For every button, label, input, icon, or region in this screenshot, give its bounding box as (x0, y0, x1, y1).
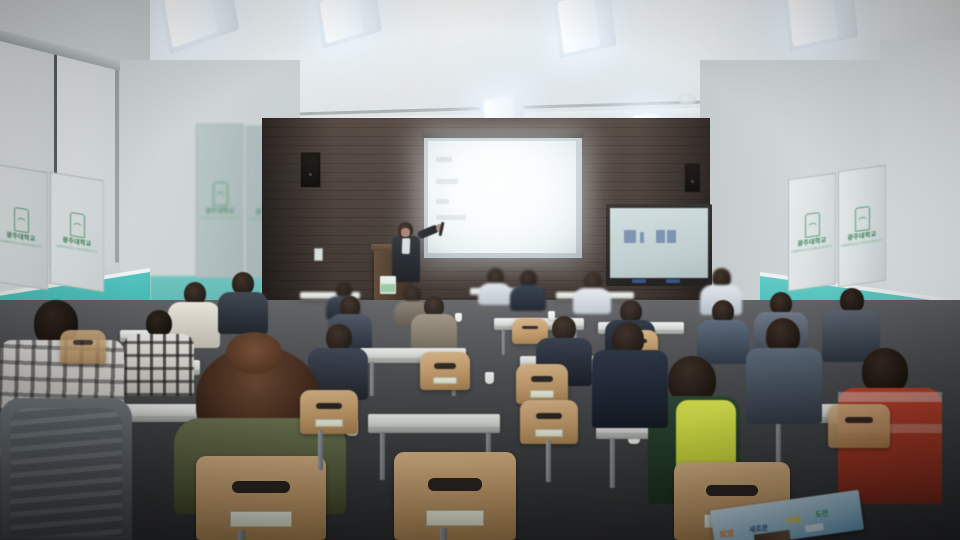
attendee-head (146, 310, 172, 337)
chair-number-sticker (315, 419, 343, 427)
handout-papers-accent (381, 284, 395, 292)
banner-english-text: GWANGJU UNIVERSITY (199, 217, 241, 220)
chair-back-foreground[interactable] (394, 452, 516, 540)
chair-back[interactable] (520, 400, 578, 444)
whiteboard-writing (656, 230, 665, 243)
chair-back[interactable] (420, 352, 470, 390)
chair-handle-slot (73, 340, 93, 345)
whiteboard-writing (640, 232, 644, 243)
attendee-dark-jacket (218, 292, 268, 334)
chair-back[interactable] (516, 364, 568, 404)
attendee-light-blue-shirt (573, 288, 611, 314)
banner-right-1: 광주대학교 GWANGJU UNIVERSITY (788, 173, 836, 292)
chair-handle-slot (531, 376, 554, 382)
desk-leg (610, 438, 615, 488)
banner-logo: 광주대학교 GWANGJU UNIVERSITY (0, 205, 42, 250)
chair-number-sticker (426, 510, 485, 526)
leaflet-word-1: 희망 (719, 528, 735, 540)
attendee-navy-suit (510, 285, 546, 311)
university-mark-icon (855, 206, 870, 232)
banner-logo: 광주대학교 GWANGJU UNIVERSITY (199, 182, 241, 220)
chair-leg (440, 528, 447, 540)
wall-speaker-left-icon (300, 152, 321, 188)
university-mark-icon (213, 182, 228, 206)
chair-leg (318, 430, 323, 470)
smoke-detector-icon (678, 94, 696, 105)
slide-text-line (436, 157, 452, 162)
desk-leg (370, 362, 374, 396)
university-mark-icon (805, 212, 820, 238)
desk-leg (380, 432, 385, 480)
attendee-teal-shirt (697, 320, 749, 364)
front-wall-shadow-left (262, 118, 332, 318)
slide-text-line (436, 199, 449, 204)
leaflet-logo (805, 523, 824, 532)
chair-leg (546, 440, 551, 482)
wall-outlet-icon (314, 248, 323, 261)
attendee-hair-bun-knot (226, 332, 282, 374)
banner-back-1: 광주대학교 GWANGJU UNIVERSITY (196, 124, 244, 278)
attendee-white-shirt (478, 283, 512, 305)
leaflet-word-4: 도전 (815, 508, 829, 520)
university-mark-icon (14, 207, 29, 233)
lecture-hall-photo: 광주대학교 GWANGJU UNIVERSITY 광주대학교 GWANGJU U… (0, 0, 960, 540)
leaflet-word-3: 미래 (785, 514, 801, 527)
slide-text-line (436, 215, 466, 220)
chair-back-foreground[interactable] (196, 456, 326, 540)
banner-logo: 광주대학교 GWANGJU UNIVERSITY (791, 210, 833, 254)
banner-logo: 광주대학교 GWANGJU UNIVERSITY (841, 204, 883, 248)
chair-handle-slot (434, 363, 456, 368)
desk-edge (368, 427, 500, 433)
blind-edge (115, 62, 119, 263)
banner-left-2: 광주대학교 GWANGJU UNIVERSITY (50, 172, 104, 293)
chair-number-sticker (230, 511, 292, 526)
chair-back[interactable] (60, 330, 106, 364)
chair-handle-slot (232, 481, 289, 493)
chair-number-sticker (433, 377, 457, 384)
screen-roller-housing[interactable] (422, 130, 584, 138)
shirt-stripe (838, 392, 942, 402)
chair-handle-slot (428, 478, 482, 490)
banner-logo: 광주대학교 GWANGJU UNIVERSITY (56, 210, 98, 255)
banner-right-2: 광주대학교 GWANGJU UNIVERSITY (838, 165, 886, 288)
whiteboard (610, 208, 708, 278)
whiteboard-writing (667, 230, 676, 243)
attendee-grey-suit (746, 348, 822, 424)
attendee-navy-suit (592, 350, 668, 428)
chair-back[interactable] (300, 390, 358, 434)
wall-speaker-right-icon (684, 163, 701, 193)
paper-cup (548, 311, 555, 320)
presenter-shirt (402, 238, 411, 254)
chair-handle-slot (316, 403, 342, 409)
projection-screen (428, 141, 576, 253)
banner-korean-text: 광주대학교 (199, 209, 241, 215)
attendee-head (326, 324, 352, 351)
chair-handle-slot (845, 417, 872, 423)
chair-back[interactable] (828, 404, 890, 448)
chair-number-sticker (530, 390, 555, 397)
university-mark-icon (70, 212, 85, 238)
attendee-plaid-shirt (124, 334, 194, 396)
chair-leg (238, 530, 245, 540)
marker-tray (632, 279, 646, 283)
jacket-quilting (10, 408, 122, 536)
chair-handle-slot (706, 485, 757, 496)
whiteboard-writing (624, 230, 636, 243)
paper-cup (485, 372, 494, 384)
marker-tray (666, 279, 680, 283)
banner-left-1: 광주대학교 GWANGJU UNIVERSITY (0, 164, 48, 291)
presenter-face (401, 228, 410, 237)
slide-text-line (436, 179, 458, 184)
desk-row4-center (368, 414, 500, 428)
chair-handle-slot (536, 413, 562, 419)
chair-number-sticker (535, 429, 563, 437)
ceiling-light-3 (557, 0, 600, 54)
